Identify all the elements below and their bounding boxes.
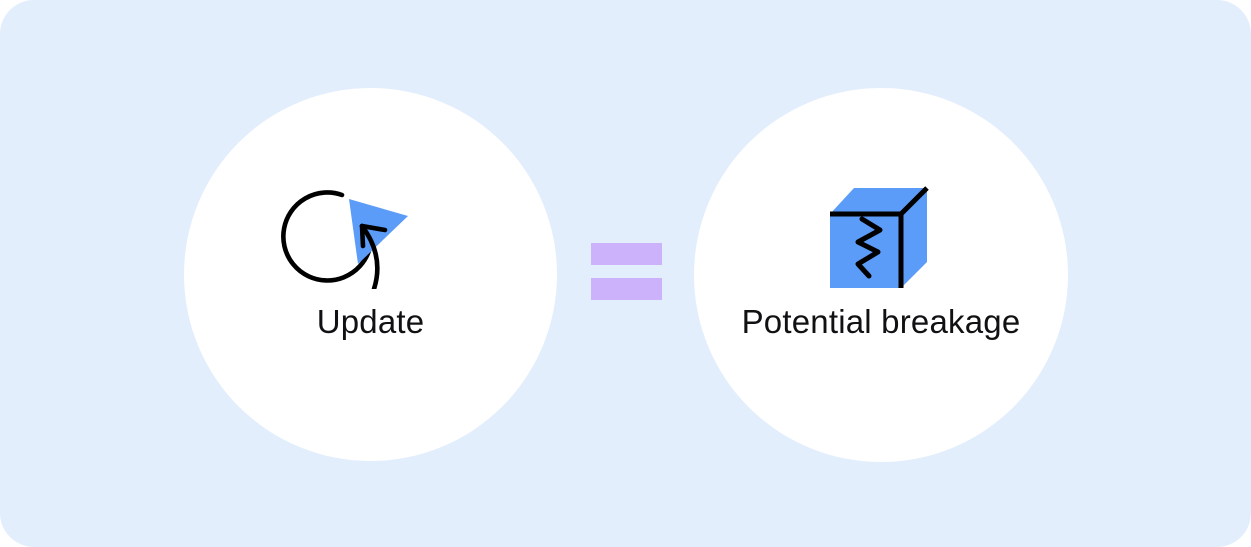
equals-bar-bottom: [591, 278, 662, 300]
concept-update-label: Update: [184, 303, 557, 341]
concept-breakage-label: Potential breakage: [694, 303, 1068, 341]
equals-bar-top: [591, 243, 662, 265]
refresh-arrow-icon: [272, 184, 422, 289]
concept-breakage: Potential breakage: [694, 88, 1068, 462]
concept-update: Update: [184, 88, 557, 461]
illustration-canvas: Update Potential breakag: [0, 0, 1251, 547]
background-panel: Update Potential breakag: [0, 0, 1251, 547]
equals-sign: [591, 243, 662, 300]
cracked-box-icon: [828, 186, 932, 290]
